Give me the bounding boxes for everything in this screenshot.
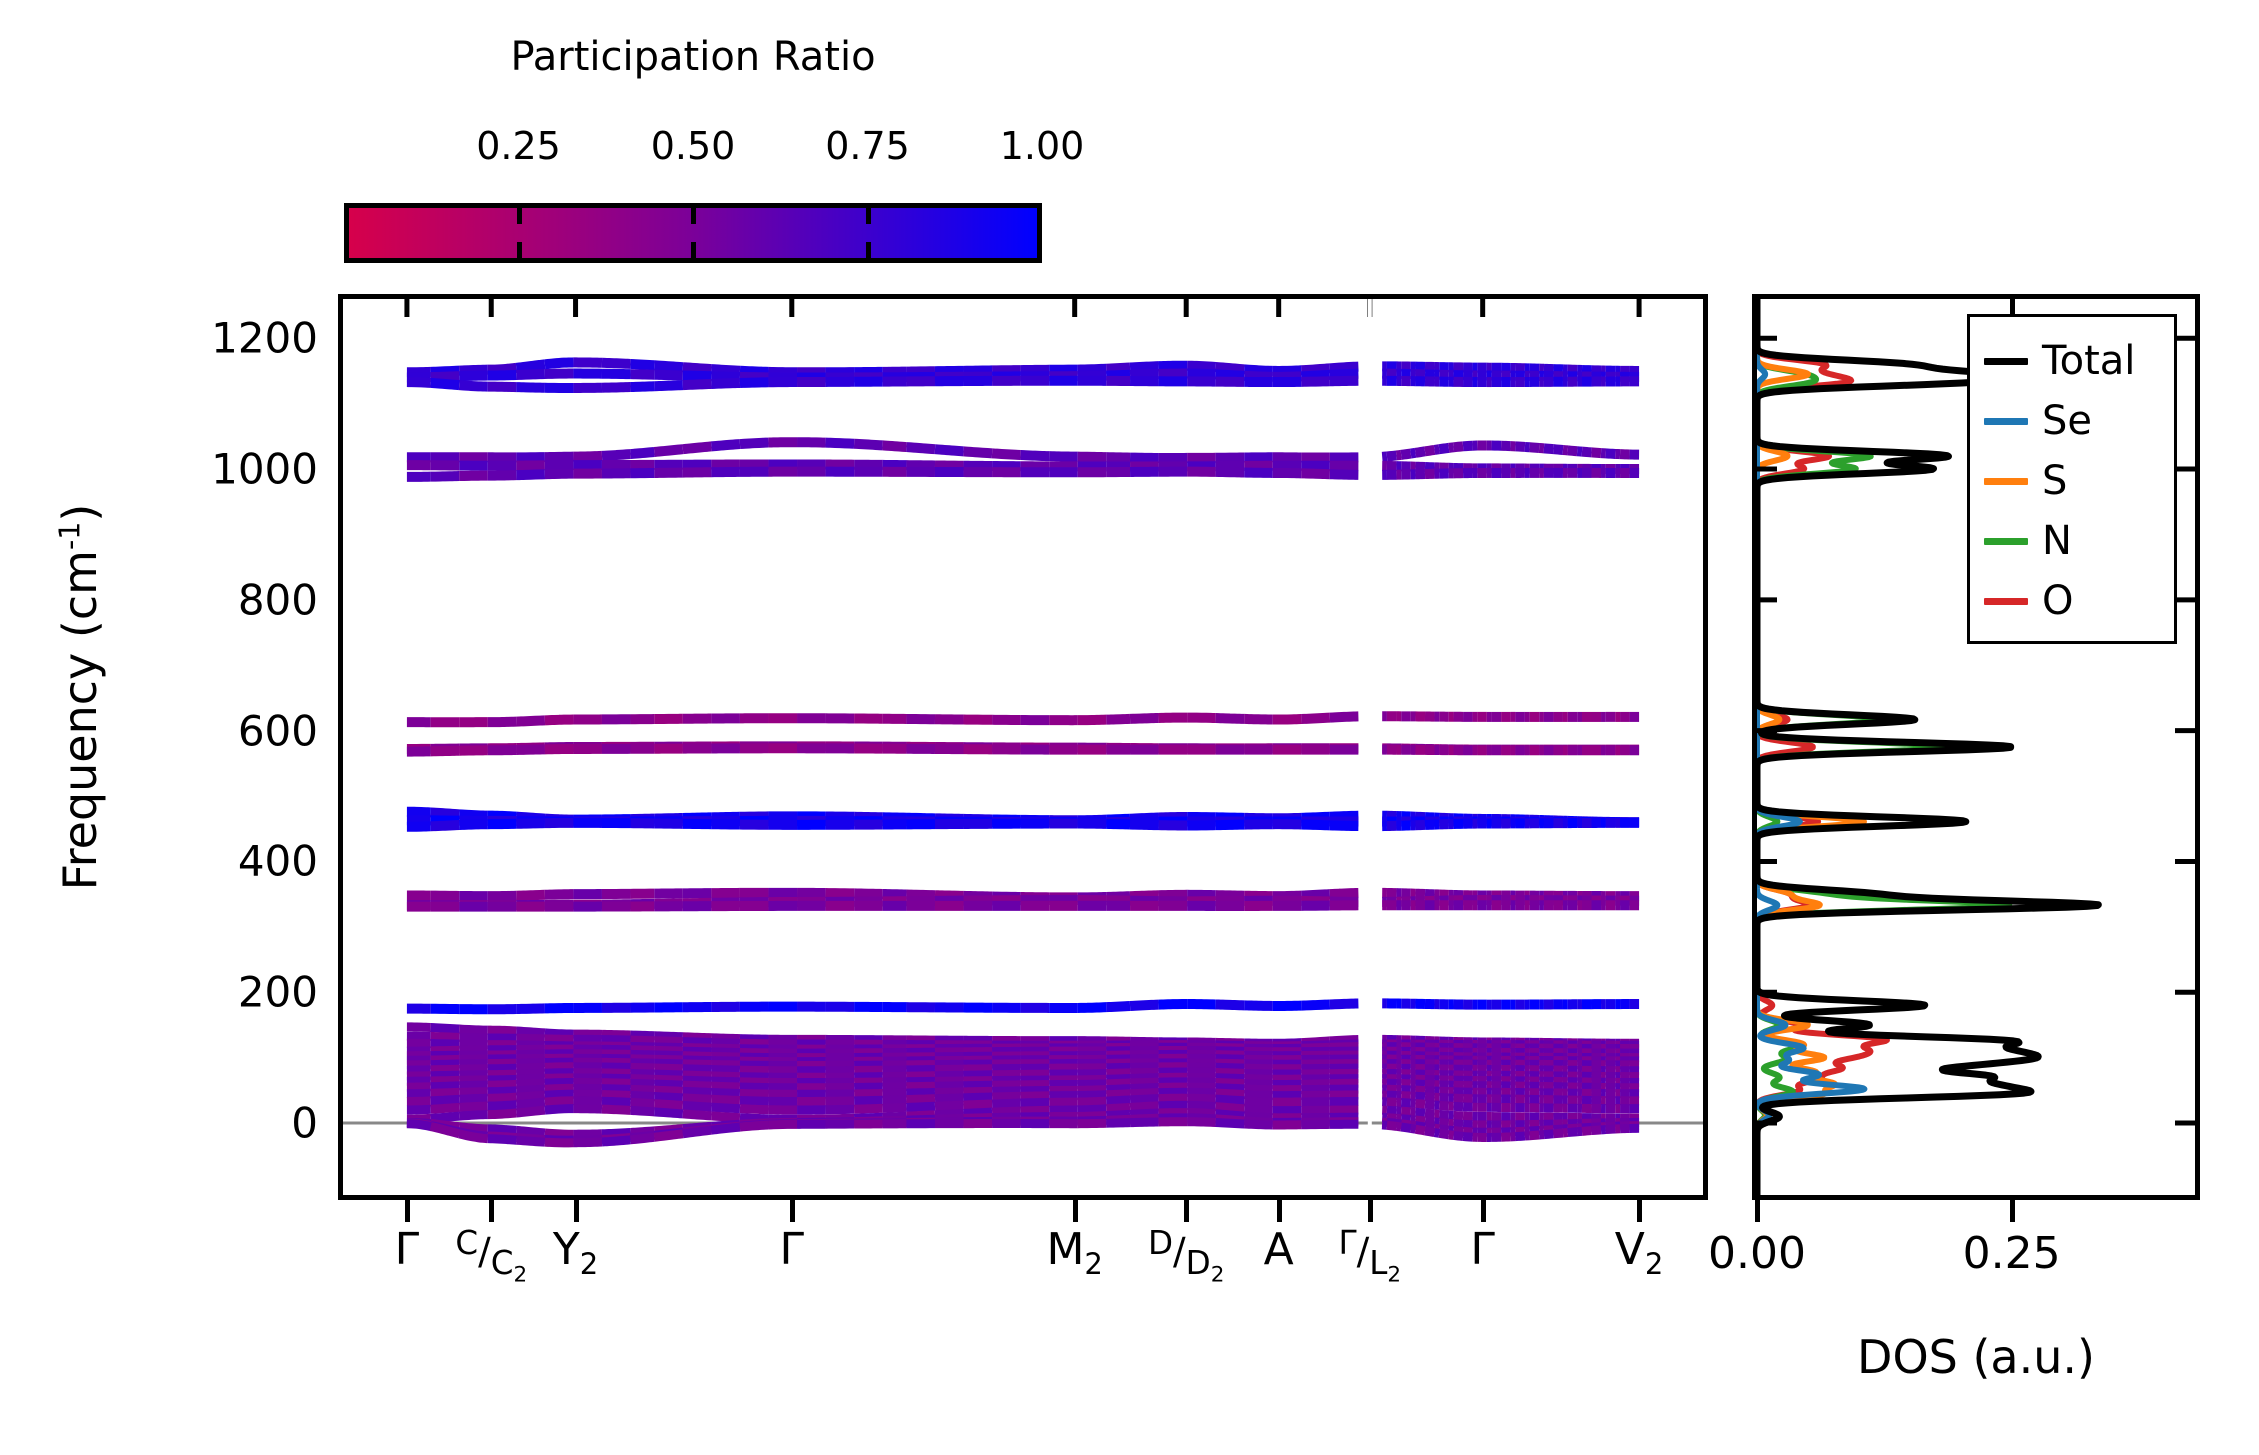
- phonon-band-segment: [631, 452, 655, 454]
- phonon-band-segment: [516, 1130, 545, 1133]
- colorbar-tick-label: 0.75: [825, 124, 910, 168]
- x-axis-tick-mark: [1277, 1200, 1282, 1222]
- phonon-band-segment: [1130, 824, 1159, 825]
- phonon-band-segment: [1515, 446, 1525, 447]
- phonon-band-segment: [906, 895, 935, 896]
- phonon-band-segment: [488, 722, 517, 723]
- phonon-band-segment: [740, 1100, 769, 1101]
- x-axis-tick-mark: [405, 1200, 410, 1222]
- phonon-band-segment: [1106, 824, 1130, 825]
- phonon-band-segment: [431, 1092, 460, 1093]
- phonon-band-segment: [1244, 369, 1273, 371]
- phonon-band-segment: [459, 1115, 488, 1117]
- phonon-band-segment: [1130, 1082, 1159, 1083]
- phonon-band-segment: [1330, 1003, 1359, 1004]
- phonon-band-segment: [1216, 472, 1245, 473]
- phonon-band-segment: [516, 1031, 545, 1033]
- phonon-band-segment: [1106, 368, 1130, 369]
- phonon-band-segment: [992, 1096, 1021, 1097]
- phonon-band-segment: [1301, 381, 1330, 382]
- phonon-band-segment: [431, 1064, 460, 1065]
- phonon-band-segment: [1216, 1123, 1245, 1124]
- phonon-band-segment: [883, 1100, 907, 1101]
- phonon-band-segment: [883, 1107, 907, 1108]
- phonon-band-segment: [683, 367, 712, 369]
- phonon-band-segment: [431, 812, 460, 814]
- phonon-band-segment: [1244, 1005, 1273, 1006]
- phonon-band-segment: [935, 1092, 964, 1093]
- phonon-band-segment: [740, 443, 769, 445]
- phonon-band-segment: [711, 1081, 740, 1082]
- phonon-band-segment: [431, 825, 460, 826]
- phonon-band-segment: [631, 1089, 655, 1090]
- x-axis-tick-mark: [574, 1200, 579, 1222]
- phonon-band-segment: [1216, 718, 1245, 719]
- phonon-band-segment: [711, 1107, 740, 1109]
- phonon-band-segment: [1244, 376, 1273, 377]
- phonon-band-segment: [654, 375, 683, 376]
- phonon-band-segment: [1130, 1099, 1159, 1100]
- phonon-band-segment: [431, 1086, 460, 1087]
- phonon-band-segment: [1021, 455, 1050, 456]
- colorbar-title: Participation Ratio: [344, 34, 1042, 80]
- phonon-band-segment: [1301, 1004, 1330, 1005]
- phonon-band-segment: [407, 382, 431, 383]
- phonon-band-segment: [488, 1030, 517, 1031]
- phonon-band-segment: [488, 1068, 517, 1069]
- phonon-band-segment: [545, 474, 574, 475]
- phonon-band-segment: [711, 383, 740, 384]
- band-structure-svg: [343, 299, 1703, 1195]
- phonon-band-segment: [1187, 1087, 1216, 1088]
- phonon-band-segment: [459, 1092, 488, 1093]
- phonon-band-segment: [631, 1035, 655, 1036]
- phonon-band-segment: [459, 376, 488, 377]
- phonon-band-segment: [1187, 366, 1216, 367]
- phonon-band-segment: [545, 1083, 574, 1084]
- legend-label: S: [2042, 461, 2067, 501]
- phonon-band-segment: [431, 1107, 460, 1109]
- dos-legend: TotalSeSNO: [1967, 314, 2177, 644]
- phonon-band-segment: [1582, 452, 1592, 453]
- phonon-band-segment: [654, 365, 683, 367]
- phonon-band-segment: [631, 1040, 655, 1041]
- phonon-band-segment: [1592, 1130, 1602, 1131]
- phonon-band-segment: [631, 1073, 655, 1074]
- phonon-band-segment: [1463, 1131, 1473, 1132]
- phonon-band-segment: [459, 814, 488, 815]
- phonon-band-segment: [545, 1033, 574, 1034]
- phonon-band-segment: [1387, 1125, 1397, 1126]
- phonon-band-segment: [1106, 1107, 1130, 1108]
- colorbar: [344, 203, 1042, 263]
- phonon-band-segment: [1401, 1127, 1411, 1128]
- phonon-band-segment: [1216, 367, 1245, 369]
- phonon-band-segment: [431, 751, 460, 752]
- phonon-band-segment: [683, 1130, 712, 1134]
- legend-label: Se: [2042, 401, 2092, 441]
- phonon-band-segment: [740, 1077, 769, 1078]
- phonon-band-segment: [683, 1085, 712, 1086]
- phonon-band-segment: [1159, 1004, 1188, 1005]
- phonon-band-segment: [573, 456, 602, 457]
- phonon-band-segment: [1216, 1099, 1245, 1101]
- phonon-band-segment: [683, 375, 712, 376]
- phonon-band-segment: [1401, 1119, 1411, 1120]
- phonon-band-segment: [964, 1097, 993, 1098]
- phonon-band-segment: [654, 1090, 683, 1091]
- phonon-band-segment: [516, 1067, 545, 1068]
- phonon-band-segment: [964, 451, 993, 453]
- phonon-band-segment: [992, 1103, 1021, 1104]
- legend-item: N: [1970, 511, 2174, 571]
- phonon-band-segment: [431, 1116, 460, 1118]
- phonon-band-segment: [1130, 1093, 1159, 1094]
- phonon-band-segment: [654, 385, 683, 386]
- phonon-band-segment: [1273, 370, 1302, 371]
- phonon-band-segment: [1330, 816, 1359, 817]
- phonon-band-structure-plot[interactable]: [338, 294, 1708, 1200]
- phonon-band-segment: [1130, 1122, 1159, 1123]
- phonon-band-segment: [1216, 1107, 1245, 1109]
- phonon-band-segment: [631, 1095, 655, 1096]
- phonon-band-segment: [992, 453, 1021, 455]
- phonon-band-segment: [516, 1083, 545, 1084]
- phonon-band-segment: [516, 1095, 545, 1097]
- phonon-band-segment: [711, 376, 740, 377]
- phonon-band-segment: [1530, 447, 1540, 448]
- y-axis-tick-labels: 020040060080010001200: [100, 294, 318, 1200]
- legend-label: O: [2042, 581, 2073, 621]
- phonon-band-segment: [654, 1041, 683, 1042]
- phonon-band-segment: [1396, 455, 1401, 456]
- legend-item: Total: [1970, 331, 2174, 391]
- phonon-band-segment: [516, 474, 545, 475]
- phonon-band-segment: [654, 1134, 683, 1138]
- phonon-band-segment: [516, 1102, 545, 1105]
- legend-label: N: [2042, 521, 2072, 561]
- phonon-band-segment: [1130, 1005, 1159, 1006]
- phonon-band-segment: [1330, 825, 1359, 826]
- phonon-band-segment: [1449, 1135, 1454, 1136]
- phonon-band-segment: [1130, 374, 1159, 375]
- phonon-band-segment: [1244, 1089, 1273, 1090]
- dos-x-tick-mark: [1755, 1200, 1760, 1222]
- phonon-band-segment: [1301, 1084, 1330, 1085]
- phonon-band-segment: [683, 1105, 712, 1107]
- phonon-band-segment: [935, 1098, 964, 1099]
- x-axis-tick-mark: [1073, 1200, 1078, 1222]
- y-axis-tick-label: 800: [100, 575, 318, 624]
- phonon-band-segment: [488, 1139, 517, 1141]
- phonon-band-segment: [1415, 1120, 1425, 1121]
- phonon-band-segment: [1021, 1102, 1050, 1103]
- phonon-band-segment: [516, 1038, 545, 1039]
- phonon-band-segment: [906, 1092, 935, 1093]
- phonon-band-segment: [545, 720, 574, 721]
- phonon-band-segment: [516, 823, 545, 824]
- phonon-band-segment: [488, 375, 517, 376]
- phonon-band-segment: [459, 1134, 488, 1139]
- phonon-band-segment: [1187, 1098, 1216, 1099]
- phonon-band-segment: [602, 1073, 631, 1074]
- phonon-band-segment: [631, 386, 655, 387]
- phonon-band-segment: [711, 444, 740, 446]
- phonon-band-segment: [1463, 446, 1473, 447]
- phonon-band-segment: [1330, 367, 1359, 369]
- legend-label: Total: [2042, 341, 2135, 381]
- phonon-band-segment: [602, 1034, 631, 1035]
- phonon-band-segment: [711, 369, 740, 371]
- phonon-band-segment: [740, 1043, 769, 1044]
- phonon-band-segment: [431, 1075, 460, 1076]
- phonon-band-segment: [1401, 454, 1411, 455]
- phonon-band-segment: [740, 1109, 769, 1110]
- phonon-band-segment: [906, 447, 935, 449]
- phonon-band-segment: [1301, 825, 1330, 826]
- phonon-band-segment: [1244, 1068, 1273, 1069]
- phonon-band-segment: [602, 1089, 631, 1090]
- phonon-band-segment: [1454, 1115, 1464, 1116]
- phonon-band-segment: [1454, 1135, 1464, 1136]
- y-axis-tick-label: 200: [100, 968, 318, 1017]
- phonon-band-segment: [1449, 447, 1454, 448]
- phonon-band-segment: [1078, 1084, 1107, 1085]
- phonon-band-segment: [516, 749, 545, 750]
- phonon-band-segment: [1216, 895, 1245, 896]
- phonon-band-segment: [1106, 1073, 1130, 1074]
- phonon-band-segment: [431, 1044, 460, 1045]
- phonon-band-segment: [459, 385, 488, 386]
- phonon-band-segment: [1106, 1100, 1130, 1101]
- phonon-band-segment: [1187, 1092, 1216, 1093]
- phonon-band-segment: [1106, 375, 1130, 376]
- phonon-band-segment: [683, 1069, 712, 1070]
- dos-x-axis-label: DOS (a.u.): [1752, 1330, 2200, 1384]
- phonon-band-segment: [431, 1050, 460, 1051]
- phonon-band-segment: [854, 1108, 883, 1109]
- phonon-band-segment: [740, 1087, 769, 1088]
- phonon-band-segment: [1078, 1101, 1107, 1102]
- phonon-band-segment: [740, 1082, 769, 1083]
- phonon-band-segment: [545, 1101, 574, 1102]
- phonon-band-segment: [1130, 366, 1159, 367]
- phonon-band-segment: [516, 1089, 545, 1091]
- phonon-band-segment: [488, 1084, 517, 1085]
- phonon-band-segment: [431, 1099, 460, 1101]
- phonon-band-segment: [1021, 1110, 1050, 1111]
- phonon-band-segment: [1553, 449, 1563, 450]
- phonon-band-segment: [826, 443, 855, 444]
- phonon-band-segment: [906, 1106, 935, 1107]
- phonon-band-segment: [1301, 375, 1330, 376]
- x-axis-tick-mark: [1184, 1200, 1189, 1222]
- phonon-band-segment: [1130, 1072, 1159, 1073]
- phonon-band-segment: [545, 362, 574, 364]
- x-axis-tick-mark: [1368, 1200, 1373, 1222]
- phonon-band-segment: [992, 1111, 1021, 1112]
- legend-color-swatch: [1984, 358, 2028, 365]
- phonon-band-segment: [407, 1027, 431, 1028]
- phonon-band-segment: [1415, 451, 1425, 452]
- phonon-band-segment: [1454, 1124, 1464, 1125]
- phonon-band-segment: [431, 476, 460, 477]
- phonon-band-segment: [1106, 719, 1130, 720]
- x-axis-tick-mark: [1637, 1200, 1642, 1222]
- phonon-band-segment: [854, 893, 883, 894]
- phonon-band-segment: [516, 720, 545, 721]
- phonon-band-segment: [602, 1109, 631, 1110]
- phonon-band-segment: [1439, 448, 1449, 449]
- phonon-band-segment: [1330, 716, 1359, 717]
- colorbar-tick-mark: [691, 208, 696, 224]
- phonon-band-segment: [1425, 1104, 1435, 1105]
- legend-item: O: [1970, 571, 2174, 631]
- phonon-band-segment: [711, 1042, 740, 1043]
- y-axis-label: Frequency (cm-1): [53, 417, 107, 977]
- legend-item: Se: [1970, 391, 2174, 451]
- phonon-band-segment: [602, 1040, 631, 1041]
- phonon-band-segment: [1330, 474, 1359, 475]
- phonon-band-segment: [1387, 1110, 1397, 1111]
- phonon-band-segment: [1582, 1131, 1592, 1132]
- phonon-band-segment: [516, 364, 545, 368]
- phonon-band-segment: [459, 1037, 488, 1038]
- phonon-band-segment: [1244, 1073, 1273, 1074]
- phonon-band-segment: [1130, 1106, 1159, 1108]
- phonon-band-segment: [740, 1093, 769, 1094]
- phonon-band-segment: [516, 895, 545, 896]
- phonon-band-segment: [545, 1094, 574, 1095]
- phonon-band-segment: [488, 1074, 517, 1075]
- phonon-band-segment: [1216, 1067, 1245, 1068]
- dos-x-tick-labels: 0.000.25: [0, 1228, 2259, 1298]
- phonon-band-segment: [1568, 1132, 1578, 1133]
- phonon-band-segment: [1216, 1088, 1245, 1089]
- phonon-band-segment: [488, 1091, 517, 1092]
- phonon-band-segment: [711, 1065, 740, 1066]
- phonon-band-segment: [631, 374, 655, 375]
- phonon-band-segment: [602, 1140, 631, 1142]
- phonon-band-segment: [1244, 719, 1273, 720]
- phonon-band-segment: [1187, 1105, 1216, 1106]
- phonon-band-segment: [488, 1097, 517, 1098]
- phonon-band-segment: [602, 1101, 631, 1102]
- phonon-band-segment: [1606, 453, 1616, 454]
- phonon-band-segment: [1301, 894, 1330, 895]
- phonon-band-segment: [631, 1110, 655, 1111]
- colorbar-tick-mark: [866, 208, 871, 224]
- phonon-band-segment: [1187, 1082, 1216, 1083]
- colorbar-tick-mark: [517, 208, 522, 224]
- phonon-band-segment: [1401, 1111, 1411, 1112]
- phonon-band-segment: [1106, 1123, 1130, 1124]
- phonon-band-segment: [1592, 452, 1602, 453]
- phonon-band-segment: [459, 1085, 488, 1086]
- phonon-band-segment: [1130, 718, 1159, 719]
- phonon-band-segment: [1463, 1137, 1473, 1138]
- colorbar-tick-label: 0.50: [651, 124, 736, 168]
- phonon-band-segment: [459, 370, 488, 371]
- dos-x-tick-label: 0.00: [1708, 1228, 1806, 1279]
- phonon-band-segment: [740, 371, 769, 372]
- phonon-band-segment: [1078, 1090, 1107, 1091]
- phonon-band-segment: [711, 1127, 740, 1130]
- phonon-band-segment: [935, 1105, 964, 1106]
- y-axis-label-text: Frequency (cm: [53, 550, 107, 890]
- phonon-band-segment: [1216, 1004, 1245, 1005]
- phonon-band-segment: [683, 446, 712, 449]
- phonon-band-segment: [654, 449, 683, 452]
- phonon-band-segment: [711, 1070, 740, 1071]
- phonon-band-segment: [854, 444, 883, 446]
- phonon-band-segment: [1411, 453, 1416, 454]
- phonon-band-segment: [631, 364, 655, 365]
- phonon-band-segment: [1216, 374, 1245, 375]
- x-axis-tick-mark: [489, 1200, 494, 1222]
- phonon-band-segment: [906, 1099, 935, 1100]
- phonon-band-segment: [1425, 1121, 1435, 1122]
- phonon-band-segment: [1106, 1006, 1130, 1007]
- phonon-band-segment: [545, 1109, 574, 1110]
- phonon-band-segment: [654, 1068, 683, 1069]
- phonon-band-segment: [1425, 1097, 1435, 1098]
- phonon-band-segment: [654, 1074, 683, 1075]
- phonon-band-segment: [602, 387, 631, 388]
- phonon-band-segment: [683, 1098, 712, 1099]
- colorbar-tick-mark: [866, 242, 871, 258]
- phonon-band-segment: [545, 894, 574, 895]
- phonon-band-segment: [488, 1129, 517, 1131]
- y-axis-tick-label: 1000: [100, 445, 318, 494]
- phonon-band-segment: [1401, 1103, 1411, 1104]
- phonon-band-segment: [883, 894, 907, 895]
- phonon-band-segment: [654, 1084, 683, 1085]
- phonon-band-segment: [545, 1088, 574, 1089]
- dos-x-tick-mark: [1755, 294, 1760, 316]
- phonon-band-segment: [407, 1124, 431, 1127]
- y-axis-label-tail: ): [53, 504, 107, 522]
- phonon-band-segment: [1021, 1096, 1050, 1097]
- phonon-band-segment: [964, 1104, 993, 1105]
- phonon-band-segment: [1244, 1101, 1273, 1102]
- phonon-band-segment: [768, 1124, 797, 1125]
- phonon-band-segment: [1187, 1122, 1216, 1123]
- x-axis-tick-mark: [1481, 1200, 1486, 1222]
- y-axis-label-exponent: -1: [54, 522, 87, 550]
- phonon-band-segment: [854, 1100, 883, 1101]
- phonon-band-segment: [1411, 1128, 1416, 1129]
- legend-item: S: [1970, 451, 2174, 511]
- phonon-band-segment: [654, 1096, 683, 1097]
- phonon-band-segment: [1530, 1135, 1540, 1136]
- phonon-band-segment: [1439, 1122, 1449, 1123]
- phonon-band-segment: [1216, 1093, 1245, 1094]
- phonon-band-segment: [1415, 1104, 1425, 1105]
- legend-color-swatch: [1984, 538, 2028, 545]
- phonon-band-segment: [683, 1114, 712, 1116]
- y-axis-tick-label: 400: [100, 837, 318, 886]
- phonon-band-segment: [407, 1101, 431, 1102]
- phonon-band-segment: [935, 449, 964, 451]
- phonon-band-segment: [431, 383, 460, 385]
- colorbar-tick-label: 0.25: [476, 124, 561, 168]
- phonon-band-segment: [1187, 374, 1216, 375]
- phonon-band-segment: [683, 384, 712, 385]
- legend-color-swatch: [1984, 478, 2028, 485]
- phonon-band-segment: [1439, 1133, 1449, 1134]
- phonon-band-segment: [631, 1137, 655, 1140]
